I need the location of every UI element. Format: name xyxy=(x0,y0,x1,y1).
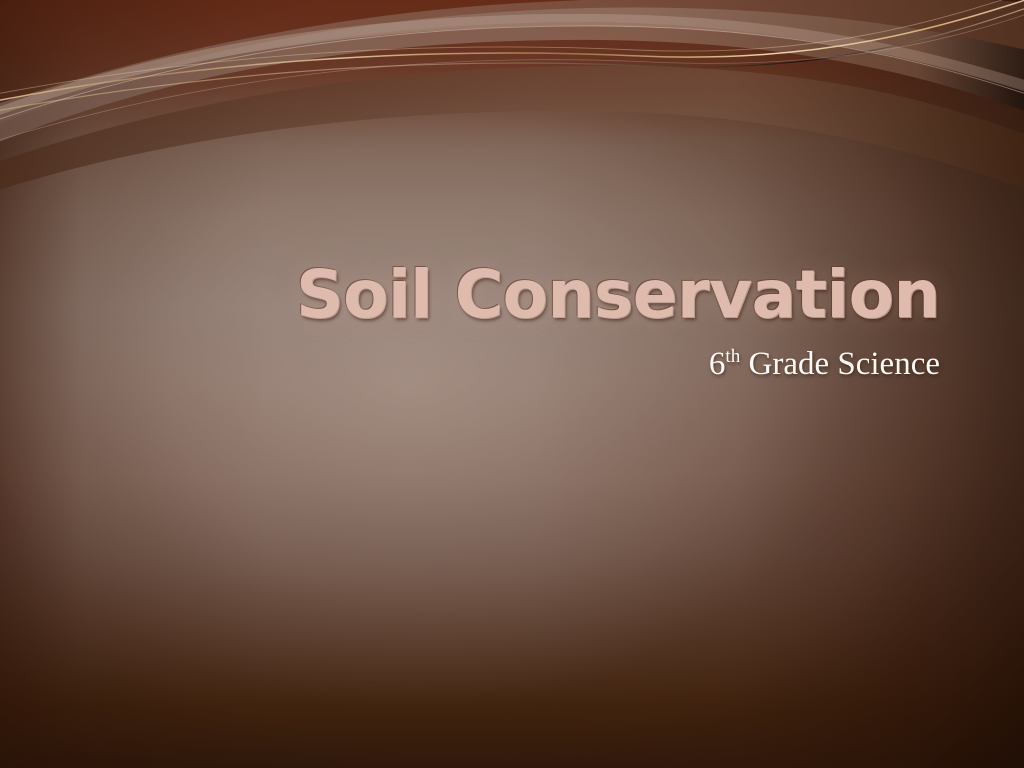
subtitle-rest: Grade Science xyxy=(740,346,940,382)
subtitle-number: 6 xyxy=(709,346,726,382)
wave-hairline-lower xyxy=(0,8,1024,146)
wave-ribbon-upper xyxy=(0,0,1024,132)
slide-text-block: Soil Conservation 6th Grade Science xyxy=(0,262,940,381)
wave-ribbon-lower-dark xyxy=(0,66,1024,196)
slide-subtitle: 6th Grade Science xyxy=(0,348,940,381)
background-vignette xyxy=(0,0,1024,768)
wave-band-pale xyxy=(0,14,1024,122)
background-top-red-wash xyxy=(0,0,1024,150)
background-base-gradient xyxy=(0,0,1024,768)
subtitle-ordinal-suffix: th xyxy=(725,346,740,367)
gold-accent-line-2 xyxy=(0,2,1024,114)
decorative-wave-graphic xyxy=(0,0,1024,200)
page-title: Soil Conservation xyxy=(0,262,940,328)
presentation-slide: Soil Conservation 6th Grade Science xyxy=(0,0,1024,768)
gold-accent-line-1 xyxy=(0,0,1024,104)
gold-accent-line-3 xyxy=(0,0,1024,97)
background-center-glow xyxy=(0,0,1024,768)
wave-hairline-upper xyxy=(0,26,1024,126)
background-horizontal-shading xyxy=(0,0,1024,768)
wave-ribbon-main xyxy=(0,7,1024,150)
